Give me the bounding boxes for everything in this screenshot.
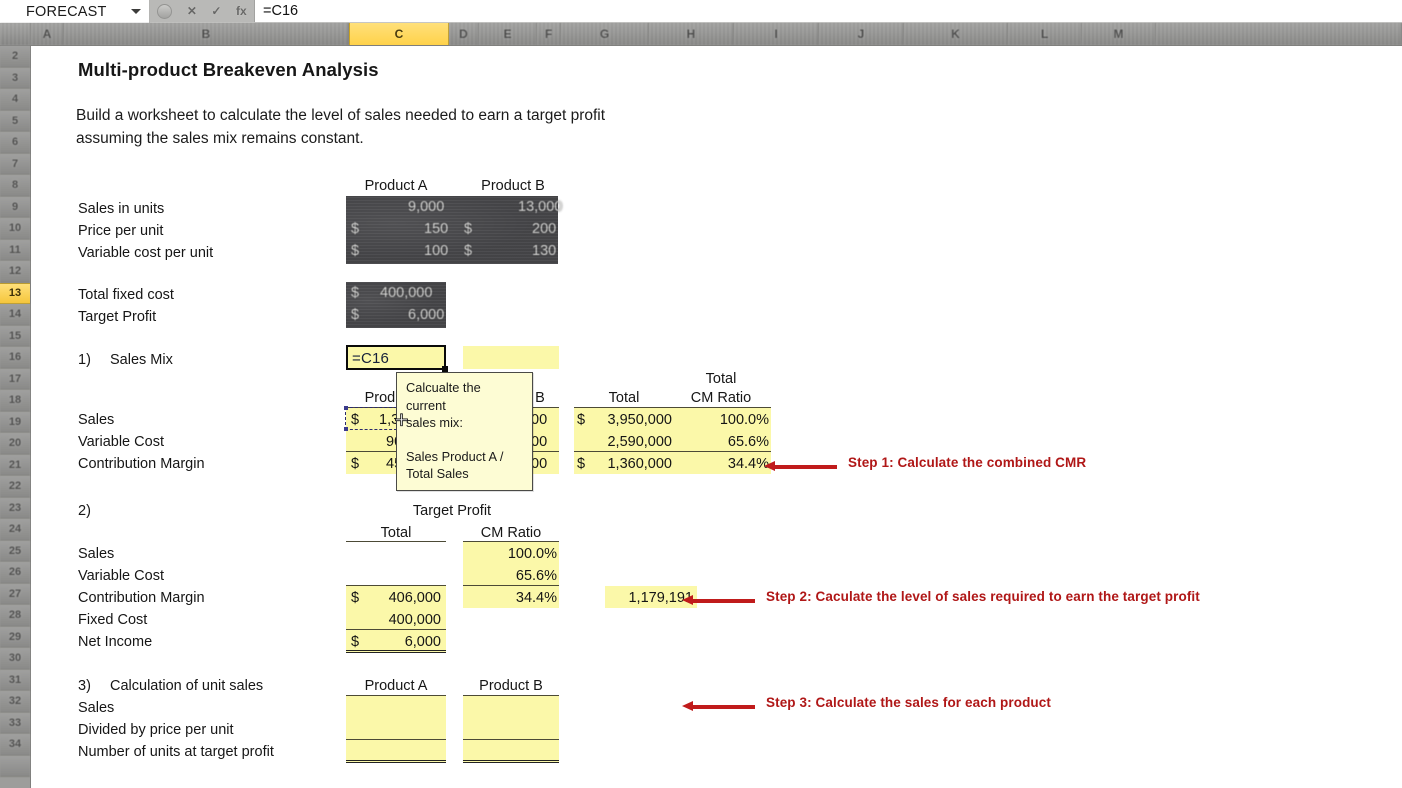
- step3-left-arrow-icon: [682, 701, 755, 712]
- input-header-product-a: Product A: [346, 178, 446, 194]
- s3-values-product-b[interactable]: [463, 696, 559, 762]
- s1-total-varcost-value: 2,590,000: [574, 434, 672, 450]
- row-header-21[interactable]: 21: [0, 455, 30, 477]
- s2-cmr-cm: 34.4%: [463, 590, 557, 606]
- s2-label-variable-cost: Variable Cost: [78, 568, 164, 584]
- s1-label-contribution-margin: Contribution Margin: [78, 456, 205, 472]
- input-header-product-b: Product B: [463, 178, 563, 194]
- s1-cmr-varcost: 65.6%: [671, 434, 769, 450]
- column-header-g[interactable]: G: [561, 23, 649, 45]
- s3-header-product-a: Product A: [346, 678, 446, 694]
- s1-header-cmratio-bottom: CM Ratio: [671, 390, 771, 406]
- select-all-corner[interactable]: [0, 23, 31, 45]
- column-header-d[interactable]: D: [449, 23, 479, 45]
- row-header-32[interactable]: 32: [0, 691, 30, 713]
- value-varcost-b: 130: [532, 243, 556, 259]
- sales-mix-cell-b[interactable]: [463, 346, 559, 369]
- row-header-26[interactable]: 26: [0, 562, 30, 584]
- s2-label-fixed-cost: Fixed Cost: [78, 612, 147, 628]
- s1-total-sales-value: 3,950,000: [574, 412, 672, 428]
- s1-total-cm-value: 1,360,000: [574, 456, 672, 472]
- fixed-values-selection[interactable]: $ 400,000 $ 6,000: [346, 282, 446, 328]
- name-box[interactable]: FORECAST: [0, 0, 150, 23]
- s2-header-cmratio: CM Ratio: [463, 525, 559, 541]
- column-header-f[interactable]: F: [537, 23, 561, 45]
- row-header-12[interactable]: 12: [0, 261, 30, 283]
- chevron-down-icon[interactable]: [131, 9, 141, 14]
- s2-label-net-income: Net Income: [78, 634, 152, 650]
- row-header-16[interactable]: 16: [0, 347, 30, 369]
- comment-line-4: Total Sales: [406, 465, 524, 483]
- s1-sales-b-value: 00: [531, 412, 547, 428]
- page-title: Multi-product Breakeven Analysis: [78, 59, 379, 81]
- s1-header-total: Total: [574, 390, 674, 406]
- value-varcost-a: 100: [424, 243, 448, 259]
- column-header-i[interactable]: I: [734, 23, 819, 45]
- row-header-10[interactable]: 10: [0, 218, 30, 240]
- insert-function-icon[interactable]: [157, 4, 172, 19]
- symbol-target-profit: $: [351, 307, 359, 323]
- value-sales-units-a: 9,000: [408, 199, 444, 215]
- s2-group-header: Target Profit: [346, 503, 558, 519]
- active-cell-c13[interactable]: =C16: [346, 345, 446, 370]
- value-sales-units-b: 13,000: [518, 199, 562, 215]
- label-sales-in-units: Sales in units: [78, 201, 164, 217]
- row-header-34[interactable]: 34: [0, 734, 30, 756]
- row-header-15[interactable]: 15: [0, 326, 30, 348]
- symbol-varcost-b: $: [464, 243, 472, 259]
- section3-label: Calculation of unit sales: [110, 678, 263, 694]
- step2-left-arrow-icon: [682, 595, 755, 606]
- row-header-column: 2 3 4 5 6 7 8 9 10 11 12 13 14 15 16 17 …: [0, 46, 31, 788]
- s2-header-total: Total: [346, 525, 446, 541]
- s2-cmr-sales: 100.0%: [463, 546, 557, 562]
- row-header-7[interactable]: 7: [0, 154, 30, 176]
- row-header-29[interactable]: 29: [0, 627, 30, 649]
- s1-cmr-sales: 100.0%: [671, 412, 769, 428]
- excel-window: FORECAST ✕ ✓ fx =C16 A B C D E F G H I J…: [0, 0, 1402, 788]
- row-header-6[interactable]: 6: [0, 132, 30, 154]
- column-header-e[interactable]: E: [479, 23, 537, 45]
- s3-label-sales: Sales: [78, 700, 114, 716]
- s2-label-sales: Sales: [78, 546, 114, 562]
- comment-line-2: sales mix:: [406, 414, 524, 432]
- s2-label-contribution-margin: Contribution Margin: [78, 590, 205, 606]
- value-price-a: 150: [424, 221, 448, 237]
- step3-annotation: Step 3: Calculate the sales for each pro…: [766, 695, 1051, 710]
- step1-left-arrow-icon: [764, 461, 837, 472]
- column-header-l[interactable]: L: [1008, 23, 1082, 45]
- row-header-33[interactable]: 33: [0, 713, 30, 735]
- s2-cmr-varcost: 65.6%: [463, 568, 557, 584]
- label-variable-cost-per-unit: Variable cost per unit: [78, 245, 213, 261]
- row-header-19[interactable]: 19: [0, 412, 30, 434]
- formula-value: =C16: [263, 3, 298, 19]
- row-header-13[interactable]: 13: [0, 283, 30, 305]
- row-header-22[interactable]: 22: [0, 476, 30, 498]
- row-header-23[interactable]: 23: [0, 498, 30, 520]
- comment-line-1: Calcualte the current: [406, 379, 524, 414]
- s3-label-number-of-units: Number of units at target profit: [78, 744, 274, 760]
- symbol-price-b: $: [464, 221, 472, 237]
- symbol-price-a: $: [351, 221, 359, 237]
- formula-input[interactable]: =C16: [255, 0, 1402, 22]
- symbol-fixed-cost: $: [351, 285, 359, 301]
- step1-annotation: Step 1: Calculate the combined CMR: [848, 455, 1086, 470]
- input-values-selection[interactable]: 9,000 13,000 $ 150 $ 200 $ 100 $ 130: [346, 196, 558, 264]
- row-header-30[interactable]: 30: [0, 648, 30, 670]
- s1-cmr-cm: 34.4%: [671, 456, 769, 472]
- row-header-4[interactable]: 4: [0, 89, 30, 111]
- label-target-profit: Target Profit: [78, 309, 156, 325]
- column-header-k[interactable]: K: [904, 23, 1008, 45]
- row-header-11[interactable]: 11: [0, 240, 30, 262]
- row-header-35[interactable]: [0, 756, 30, 778]
- row-header-28[interactable]: 28: [0, 605, 30, 627]
- row-header-17[interactable]: 17: [0, 369, 30, 391]
- column-header-b[interactable]: B: [64, 23, 349, 45]
- s2-required-sales-value: 1,179,191: [605, 590, 693, 606]
- s3-header-product-b: Product B: [463, 678, 559, 694]
- value-target-profit: 6,000: [408, 307, 444, 323]
- cancel-icon[interactable]: ✕: [187, 4, 197, 18]
- s2-total-cm-value: 406,000: [346, 590, 441, 606]
- row-header-5[interactable]: 5: [0, 111, 30, 133]
- s3-values-product-a[interactable]: [346, 696, 446, 762]
- s2-total-fixed-cost: 400,000: [346, 612, 441, 628]
- step2-annotation: Step 2: Caculate the level of sales requ…: [766, 589, 1200, 604]
- page-description: Build a worksheet to calculate the level…: [76, 104, 636, 150]
- symbol-varcost-a: $: [351, 243, 359, 259]
- row-header-25[interactable]: 25: [0, 541, 30, 563]
- s1-cm-b-value: 00: [531, 456, 547, 472]
- row-header-9[interactable]: 9: [0, 197, 30, 219]
- s2-total-net-income: 6,000: [346, 634, 441, 650]
- column-header-a[interactable]: A: [31, 23, 64, 45]
- row-header-31[interactable]: 31: [0, 670, 30, 692]
- column-a-gutter[interactable]: [31, 46, 45, 788]
- worksheet-canvas[interactable]: Multi-product Breakeven Analysis Build a…: [31, 46, 1402, 788]
- function-wizard-icon[interactable]: fx: [236, 4, 247, 18]
- formula-bar: FORECAST ✕ ✓ fx =C16: [0, 0, 1402, 23]
- s1-header-cmratio-top: Total: [671, 371, 771, 387]
- active-cell-value: =C16: [352, 350, 389, 367]
- row-header-14[interactable]: 14: [0, 304, 30, 326]
- value-fixed-cost: 400,000: [380, 285, 432, 301]
- s1-cm-a-symbol: $: [351, 456, 359, 472]
- row-header-20[interactable]: 20: [0, 433, 30, 455]
- name-box-value: FORECAST: [0, 4, 107, 20]
- column-header-m[interactable]: M: [1082, 23, 1156, 45]
- row-header-2[interactable]: 2: [0, 46, 30, 68]
- formula-bar-buttons: ✕ ✓ fx: [150, 0, 255, 22]
- enter-icon[interactable]: ✓: [211, 4, 221, 18]
- comment-line-3: Sales Product A /: [406, 448, 524, 466]
- row-header-3[interactable]: 3: [0, 68, 30, 90]
- label-price-per-unit: Price per unit: [78, 223, 163, 239]
- section3-number: 3): [78, 678, 91, 694]
- section2-number: 2): [78, 503, 91, 519]
- column-header-n[interactable]: [1156, 23, 1402, 45]
- row-header-27[interactable]: 27: [0, 584, 30, 606]
- row-header-24[interactable]: 24: [0, 519, 30, 541]
- row-header-8[interactable]: 8: [0, 175, 30, 197]
- s1-label-variable-cost: Variable Cost: [78, 434, 164, 450]
- row-header-18[interactable]: 18: [0, 390, 30, 412]
- s1-varcost-b-value: 00: [531, 434, 547, 450]
- section1-number: 1): [78, 352, 91, 368]
- s1-label-sales: Sales: [78, 412, 114, 428]
- section1-label: Sales Mix: [110, 352, 173, 368]
- label-total-fixed-cost: Total fixed cost: [78, 287, 174, 303]
- cell-comment-box[interactable]: Calcualte the current sales mix: Sales P…: [396, 372, 533, 491]
- column-header-c[interactable]: C: [349, 23, 449, 45]
- column-header-j[interactable]: J: [819, 23, 904, 45]
- column-header-h[interactable]: H: [649, 23, 734, 45]
- s3-label-divided-by-price: Divided by price per unit: [78, 722, 234, 738]
- value-price-b: 200: [532, 221, 556, 237]
- column-header-row: A B C D E F G H I J K L M: [0, 23, 1402, 46]
